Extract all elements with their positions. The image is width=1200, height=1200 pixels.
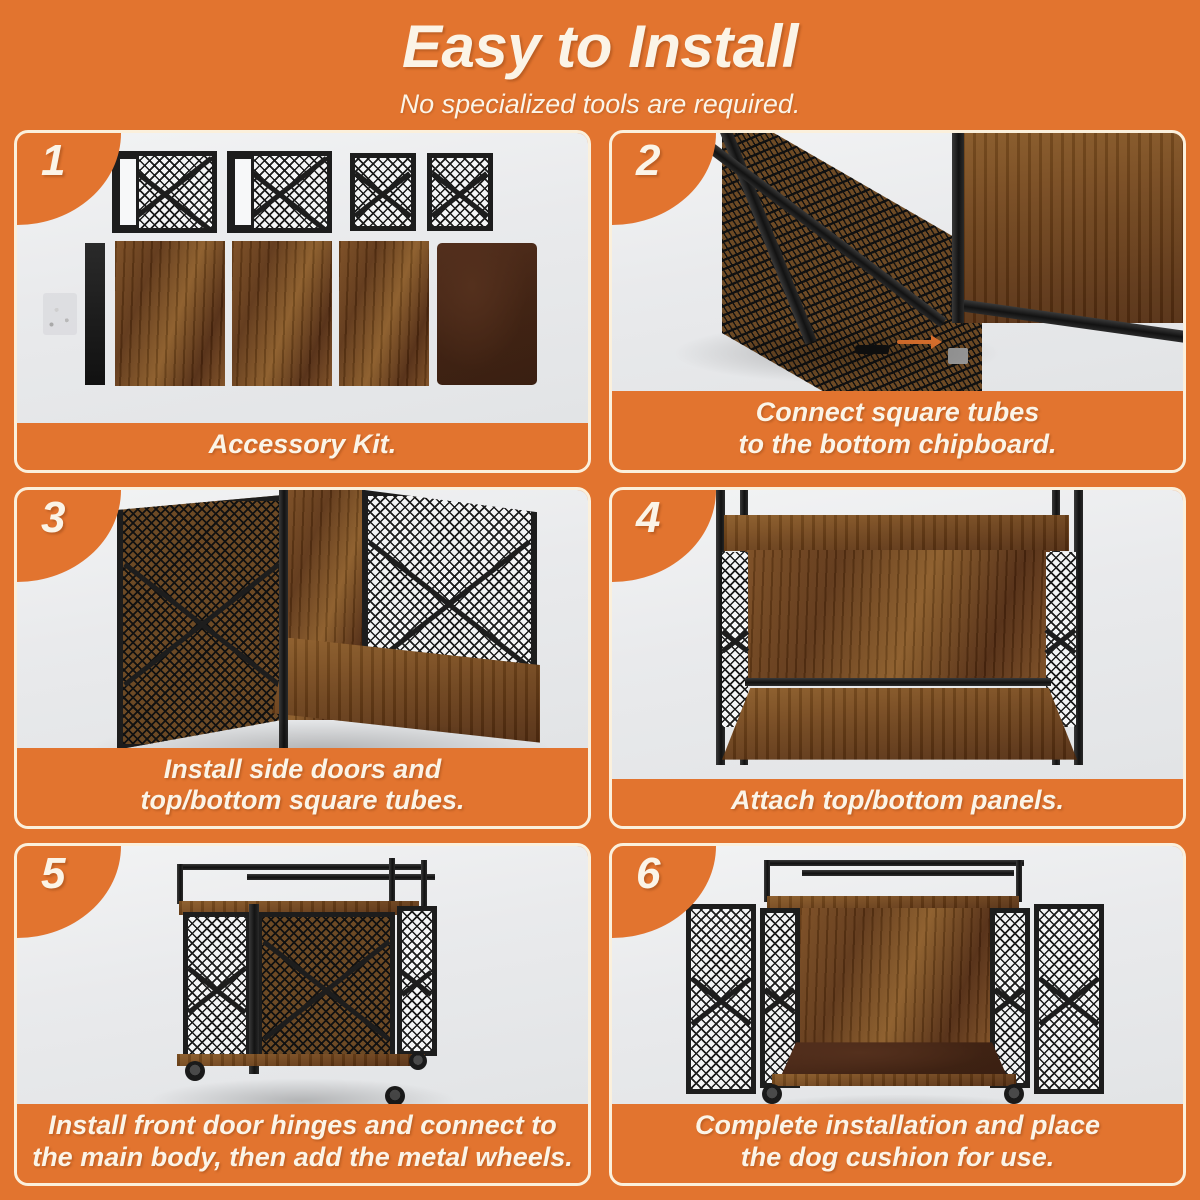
steps-grid: 1 Accessory Kit. <box>0 130 1200 1200</box>
step-photo-4: 4 <box>612 490 1183 780</box>
mesh-panel-part <box>427 153 493 231</box>
mesh-side-right-part <box>397 906 437 1056</box>
step-photo-3: 3 <box>17 490 588 748</box>
step-caption-4: Attach top/bottom panels. <box>612 779 1183 826</box>
step-caption-5: Install front door hinges and connect to… <box>17 1104 588 1183</box>
page-title: Easy to Install <box>0 12 1200 81</box>
mesh-side-left-part <box>722 552 748 727</box>
step-caption-6: Complete installation and place the dog … <box>612 1104 1183 1183</box>
step-card-1[interactable]: 1 Accessory Kit. <box>14 130 591 473</box>
caption-line: Accessory Kit. <box>209 429 397 461</box>
wood-board-part <box>339 241 429 386</box>
bottom-chipboard-part <box>962 133 1183 323</box>
caption-line: to the bottom chipboard. <box>739 429 1057 461</box>
caster-wheel-part <box>409 1052 427 1070</box>
dog-cushion-part <box>437 243 537 385</box>
caption-line: Install side doors and <box>164 754 442 786</box>
back-panel-part <box>800 908 990 1048</box>
drop-shadow <box>147 1078 457 1104</box>
caption-line: top/bottom square tubes. <box>141 785 465 817</box>
step-card-4[interactable]: 4 Attach top/bottom panels. <box>609 487 1186 830</box>
drop-shadow <box>672 323 1002 383</box>
page-subtitle: No specialized tools are required. <box>0 89 1200 120</box>
infographic-page: Easy to Install No specialized tools are… <box>0 0 1200 1200</box>
step-number-3: 3 <box>41 496 65 582</box>
bottom-panel-part <box>772 1074 1016 1086</box>
caption-line: Install front door hinges and connect to <box>48 1110 557 1142</box>
step-card-5[interactable]: 5 Install front door hinges and connect … <box>14 843 591 1186</box>
top-rail-part <box>247 874 435 880</box>
step-card-2[interactable]: 2 Connect square tubes to the bottom chi… <box>609 130 1186 473</box>
drop-shadow <box>87 720 557 748</box>
wood-board-part <box>232 241 332 386</box>
corner-post-part <box>279 490 288 748</box>
rail-post-part <box>177 864 183 904</box>
hardware-bag-part <box>43 293 77 335</box>
wood-board-part <box>115 241 225 386</box>
square-tube-part <box>745 678 1051 686</box>
top-rail-part <box>764 860 1024 866</box>
page-header: Easy to Install No specialized tools are… <box>0 0 1200 130</box>
front-door-right-open-part[interactable] <box>1034 904 1104 1094</box>
step-photo-6: 6 <box>612 846 1183 1104</box>
corner-post-part <box>952 133 964 323</box>
caption-line: Connect square tubes <box>756 397 1040 429</box>
mesh-panel-part <box>350 153 416 231</box>
front-door-left-part[interactable] <box>183 912 251 1064</box>
caption-line: Attach top/bottom panels. <box>731 785 1064 817</box>
caption-line: the dog cushion for use. <box>741 1142 1055 1174</box>
step-photo-5: 5 <box>17 846 588 1104</box>
step-card-3[interactable]: 3 Install side doors and top/bottom squa… <box>14 487 591 830</box>
step-number-5: 5 <box>41 852 65 938</box>
bottom-panel-part <box>722 688 1077 760</box>
top-panel-part <box>724 515 1069 551</box>
step-number-6: 6 <box>636 852 660 938</box>
caption-line: Complete installation and place <box>695 1110 1100 1142</box>
door-stile-part <box>232 156 254 228</box>
step-card-6[interactable]: 6 Complete installation and place the do… <box>609 843 1186 1186</box>
back-panel-part <box>745 550 1050 680</box>
step-caption-1: Accessory Kit. <box>17 423 588 470</box>
step-caption-2: Connect square tubes to the bottom chipb… <box>612 391 1183 470</box>
step-photo-2: 2 <box>612 133 1183 391</box>
step-number-2: 2 <box>636 139 660 225</box>
top-rail-part <box>802 870 1014 876</box>
door-stile-part <box>117 156 139 228</box>
mesh-side-left-part <box>117 495 287 748</box>
step-photo-1: 1 <box>17 133 588 423</box>
drop-shadow <box>722 1094 1072 1104</box>
front-door-left-open-part[interactable] <box>686 904 756 1094</box>
caption-line: the main body, then add the metal wheels… <box>32 1142 573 1174</box>
front-door-right-part[interactable] <box>257 912 395 1064</box>
step-number-1: 1 <box>41 139 65 225</box>
door-hinge-post-part <box>249 904 259 1074</box>
step-number-4: 4 <box>636 496 660 582</box>
bottom-panel-part <box>177 1054 425 1066</box>
step-caption-3: Install side doors and top/bottom square… <box>17 748 588 827</box>
black-rail-part <box>85 243 105 385</box>
dog-cushion-part <box>780 1042 1008 1078</box>
